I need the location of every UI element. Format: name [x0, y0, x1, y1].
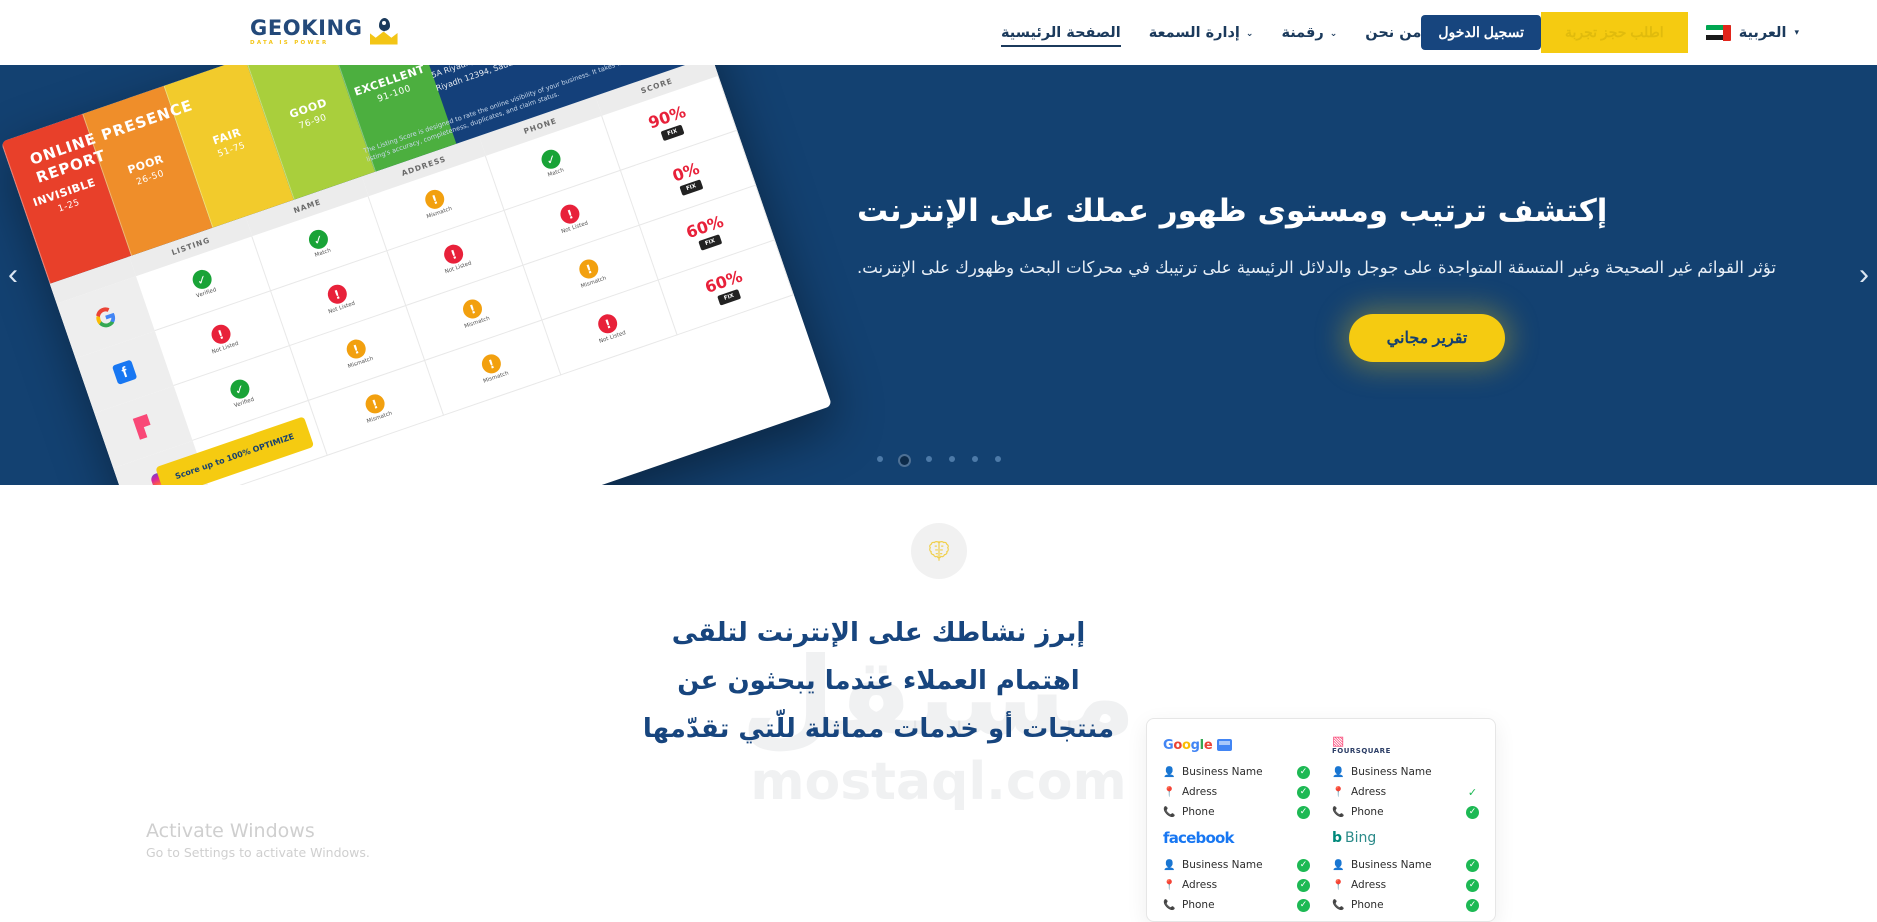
listing-card-facebook: facebook👤Business Name✓📍Adress✓📞Phone✓: [1163, 826, 1310, 915]
listing-card-foursquare: ▧FOURSQUARE👤Business Name📍Adress✓📞Phone✓: [1332, 733, 1479, 822]
check-icon: ✓: [1466, 859, 1479, 872]
header-actions: ▾ العربية اطلب حجز تجربة تسجيل الدخول: [1421, 12, 1849, 53]
hero-title: إكتشف ترتيب ومستوى ظهور عملك على الإنترن…: [857, 188, 1817, 235]
logo-tagline: DATA IS POWER: [250, 41, 363, 47]
request-trial-button[interactable]: اطلب حجز تجربة: [1541, 12, 1688, 53]
pin-icon: 📍: [1163, 787, 1175, 798]
listing-row: 📍Adress✓: [1163, 782, 1310, 802]
listing-row: 📍Adress✓: [1332, 875, 1479, 895]
carousel-next-arrow[interactable]: ›: [8, 258, 18, 292]
check-icon: ✓: [1297, 766, 1310, 779]
carousel-prev-arrow[interactable]: ‹: [1859, 258, 1869, 292]
pin-icon: 📍: [1163, 880, 1175, 891]
row-label: Business Name: [1182, 766, 1290, 778]
partial-check-icon: ✓: [1466, 786, 1479, 799]
language-selector[interactable]: ▾ العربية: [1706, 25, 1799, 41]
row-label: Adress: [1182, 786, 1290, 798]
hero-carousel: INVISIBLE1-25POOR26-50FAIR51-75GOOD76-90…: [0, 65, 1877, 485]
listing-row: 📞Phone✓: [1332, 802, 1479, 822]
pin-icon: 📍: [1332, 787, 1344, 798]
heading-line-2: اهتمام العملاء عندما يبحثون عن: [677, 666, 1079, 696]
pin-icon: 📍: [1332, 880, 1344, 891]
main-nav: من نحن ⌄ رقمنة ⌄ إدارة السمعة الصفحة الر…: [1001, 25, 1421, 41]
check-icon: ✓: [1297, 879, 1310, 892]
listing-card-google-my-business: Google👤Business Name✓📍Adress✓📞Phone✓: [1163, 733, 1310, 822]
person-icon: 👤: [1332, 767, 1344, 778]
row-label: Business Name: [1351, 859, 1459, 871]
chevron-down-icon: ⌄: [1246, 29, 1254, 39]
listing-row: 📍Adress✓: [1332, 782, 1479, 802]
listing-row: 📍Adress✓: [1163, 875, 1310, 895]
person-icon: 👤: [1163, 767, 1175, 778]
nav-item-label: من نحن: [1365, 25, 1421, 41]
hero-copy: إكتشف ترتيب ومستوى ظهور عملك على الإنترن…: [797, 188, 1877, 361]
section-heading: إبرز نشاطك على الإنترنت لتلقى اهتمام الع…: [0, 609, 1877, 753]
login-button[interactable]: تسجيل الدخول: [1421, 15, 1541, 50]
site-logo[interactable]: GEOKING DATA IS POWER: [0, 18, 400, 48]
nav-item-label: رقمنة: [1281, 25, 1323, 41]
check-icon: ✓: [1297, 859, 1310, 872]
phone-icon: 📞: [1332, 807, 1344, 818]
listing-row: 📞Phone✓: [1163, 802, 1310, 822]
empty-status-icon: [1466, 766, 1479, 779]
free-report-button[interactable]: تقرير مجاني: [1349, 314, 1506, 362]
row-label: Adress: [1182, 879, 1290, 891]
platform-logo: Google: [1163, 733, 1310, 757]
row-label: Adress: [1351, 786, 1459, 798]
carousel-dot-3[interactable]: [949, 456, 955, 462]
nav-item-digitization[interactable]: ⌄ رقمنة: [1281, 25, 1337, 41]
carousel-dot-6[interactable]: [877, 456, 883, 462]
platform-logo: bBing: [1332, 826, 1479, 850]
heading-line-1: إبرز نشاطك على الإنترنت لتلقى: [672, 618, 1086, 648]
listing-row: 📞Phone✓: [1332, 895, 1479, 915]
person-icon: 👤: [1163, 860, 1175, 871]
listing-cards-panel: Google👤Business Name✓📍Adress✓📞Phone✓▧FOU…: [1146, 718, 1496, 922]
check-icon: ✓: [1297, 899, 1310, 912]
check-icon: ✓: [1297, 806, 1310, 819]
carousel-dot-2[interactable]: [972, 456, 978, 462]
language-label: العربية: [1739, 25, 1787, 41]
check-icon: ✓: [1466, 806, 1479, 819]
hero-subtitle: تؤثر القوائم غير الصحيحة وغير المتسقة ال…: [857, 253, 1817, 284]
carousel-dot-5[interactable]: [900, 456, 909, 465]
listing-card-bing: bBing👤Business Name✓📍Adress✓📞Phone✓: [1332, 826, 1479, 915]
logo-name: GEOKING: [250, 18, 363, 39]
listing-row: 👤Business Name✓: [1163, 855, 1310, 875]
nav-item-about[interactable]: من نحن: [1365, 25, 1421, 41]
person-icon: 👤: [1332, 860, 1344, 871]
listing-row: 👤Business Name: [1332, 762, 1479, 782]
chevron-down-icon: ▾: [1794, 28, 1799, 38]
heading-line-3: منتجات أو خدمات مماثلة للّتي تقدّمها: [643, 714, 1114, 744]
site-header: ▾ العربية اطلب حجز تجربة تسجيل الدخول من…: [0, 0, 1877, 65]
geoking-crown-pin-icon: [370, 18, 400, 48]
nav-item-reputation-management[interactable]: ⌄ إدارة السمعة: [1149, 25, 1254, 41]
row-label: Phone: [1182, 806, 1290, 818]
chevron-down-icon: ⌄: [1330, 29, 1338, 39]
phone-icon: 📞: [1163, 900, 1175, 911]
row-label: Phone: [1351, 899, 1459, 911]
phone-icon: 📞: [1163, 807, 1175, 818]
phone-icon: 📞: [1332, 900, 1344, 911]
check-icon: ✓: [1466, 899, 1479, 912]
check-icon: ✓: [1297, 786, 1310, 799]
nav-item-label: إدارة السمعة: [1149, 25, 1240, 41]
brain-icon: [911, 523, 967, 579]
online-presence-section: مستقل mostaql.com إبرز نشاطك على الإنترن…: [0, 485, 1877, 899]
ae-flag-icon: [1706, 25, 1731, 41]
listing-row: 👤Business Name✓: [1332, 855, 1479, 875]
platform-logo: ▧FOURSQUARE: [1332, 733, 1479, 757]
row-label: Adress: [1351, 879, 1459, 891]
row-label: Phone: [1182, 899, 1290, 911]
row-label: Business Name: [1182, 859, 1290, 871]
listing-row: 📞Phone✓: [1163, 895, 1310, 915]
carousel-dot-1[interactable]: [995, 456, 1001, 462]
nav-item-label: الصفحة الرئيسية: [1001, 25, 1121, 41]
row-label: Phone: [1351, 806, 1459, 818]
carousel-dots: [0, 456, 1877, 465]
nav-item-home[interactable]: الصفحة الرئيسية: [1001, 25, 1121, 41]
carousel-dot-4[interactable]: [926, 456, 932, 462]
row-label: Business Name: [1351, 766, 1459, 778]
check-icon: ✓: [1466, 879, 1479, 892]
listing-row: 👤Business Name✓: [1163, 762, 1310, 782]
platform-logo: facebook: [1163, 826, 1310, 850]
